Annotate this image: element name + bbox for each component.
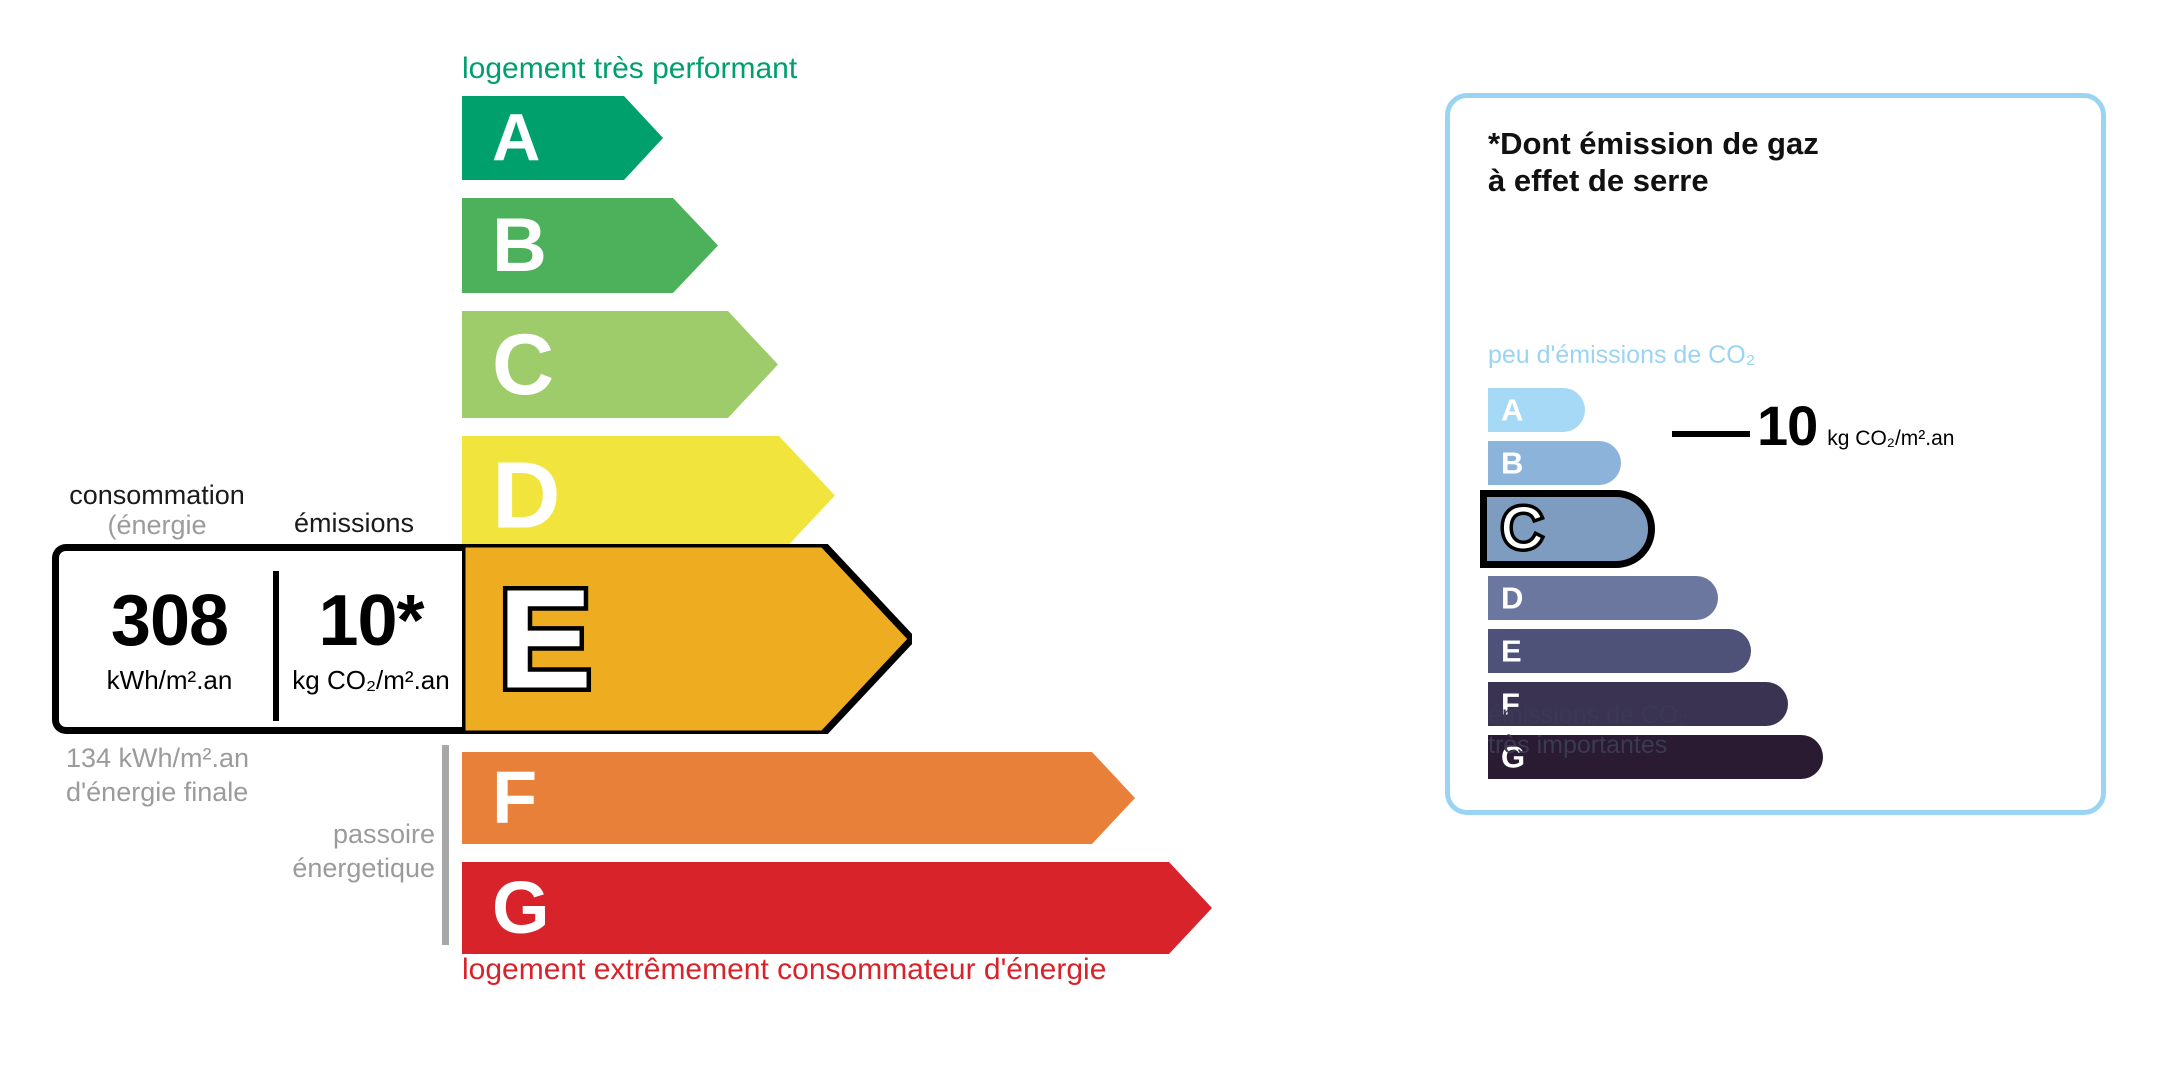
dpe-diagram: logement très performant ABCDEFG 308 kWh… [0, 0, 2169, 1079]
energy-band-c: C [462, 311, 778, 418]
ghg-bar-letter-c: C [1501, 500, 1543, 558]
ghg-bar-letter-b: B [1501, 448, 1523, 479]
energy-band-letter-e: E [498, 569, 592, 710]
ghg-bar-letter-a: A [1501, 395, 1523, 426]
ghg-value-callout: 10 kg CO₂/m².an [1757, 398, 1954, 454]
energy-band-letter-d: D [492, 448, 561, 543]
value-box: 308 kWh/m².an 10* kg CO₂/m².an [52, 544, 462, 734]
ghg-bar-c: C [1480, 490, 1655, 568]
emissions-label: émissions [294, 508, 414, 538]
ghg-bar-e: E [1488, 629, 1751, 673]
ghg-panel-title: *Dont émission de gaz à effet de serre [1488, 126, 1819, 199]
energy-band-d: D [462, 436, 835, 555]
ghg-bar-letter-d: D [1501, 583, 1523, 614]
passoire-line2: énergetique [230, 852, 435, 886]
co2-emission-value-cell: 10* kg CO₂/m².an [281, 551, 461, 727]
ghg-bar-a: A [1488, 388, 1585, 432]
ghg-top-caption: peu d'émissions de CO₂ [1488, 343, 1755, 368]
energy-band-e: E [462, 544, 912, 734]
passoire-rule [442, 745, 449, 945]
ghg-bottom-caption: émissions de CO₂ très importantes [1488, 701, 1688, 760]
final-energy-line2: d'énergie finale [66, 776, 249, 810]
ghg-value-number: 10 [1757, 398, 1817, 454]
ghg-value-unit: kg CO₂/m².an [1827, 428, 1954, 449]
co2-emission-unit: kg CO₂/m².an [292, 667, 449, 693]
energy-band-letter-b: B [492, 208, 547, 284]
final-energy-line1: 134 kWh/m².an [66, 742, 249, 776]
ghg-leader-line [1672, 431, 1750, 437]
consommation-label-main: consommation [69, 480, 245, 510]
energy-band-a: A [462, 96, 663, 180]
energy-bottom-caption: logement extrêmement consommateur d'éner… [462, 955, 1106, 985]
energy-consumption-panel: logement très performant ABCDEFG 308 kWh… [0, 0, 1330, 1079]
co2-emission-number: 10* [318, 585, 423, 657]
energy-band-letter-g: G [492, 871, 550, 945]
primary-energy-number: 308 [111, 585, 228, 657]
energy-band-letter-c: C [492, 322, 554, 408]
ghg-emissions-panel: *Dont émission de gaz à effet de serre p… [1445, 93, 2106, 815]
primary-energy-value-cell: 308 kWh/m².an [67, 551, 272, 727]
value-box-divider [273, 571, 279, 721]
ghg-bar-letter-e: E [1501, 636, 1522, 667]
ghg-bar-b: B [1488, 441, 1621, 485]
energy-band-f: F [462, 752, 1135, 844]
energy-band-g: G [462, 862, 1212, 954]
primary-energy-unit: kWh/m².an [107, 667, 233, 693]
energy-band-letter-a: A [492, 105, 540, 172]
energy-top-caption: logement très performant [462, 54, 797, 84]
passoire-line1: passoire [230, 818, 435, 852]
energy-band-b: B [462, 198, 718, 293]
energy-band-letter-f: F [492, 761, 537, 835]
passoire-energetique-label: passoire énergetique [230, 818, 435, 886]
final-energy-note: 134 kWh/m².an d'énergie finale [66, 742, 249, 810]
ghg-bar-d: D [1488, 576, 1718, 620]
